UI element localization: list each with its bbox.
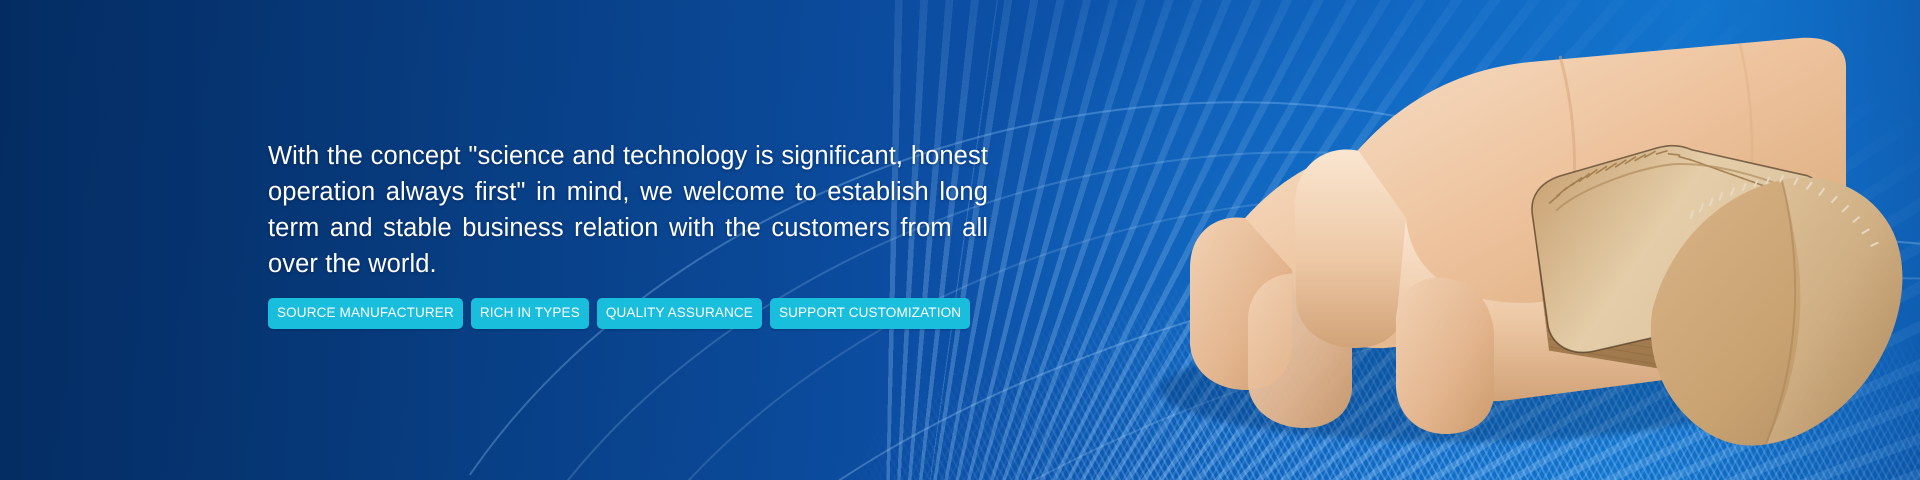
- promo-banner: With the concept "science and technology…: [0, 0, 1920, 480]
- feature-tag-rich-in-types[interactable]: RICH IN TYPES: [471, 298, 589, 329]
- product-image: [1040, 18, 1920, 458]
- feature-tag-quality-assurance[interactable]: QUALITY ASSURANCE: [597, 298, 762, 329]
- banner-content: With the concept "science and technology…: [268, 138, 988, 329]
- banner-headline: With the concept "science and technology…: [268, 138, 988, 282]
- feature-tag-support-customization[interactable]: SUPPORT CUSTOMIZATION: [770, 298, 970, 329]
- feature-tag-list: SOURCE MANUFACTURER RICH IN TYPES QUALIT…: [268, 298, 988, 329]
- feature-tag-source-manufacturer[interactable]: SOURCE MANUFACTURER: [268, 298, 463, 329]
